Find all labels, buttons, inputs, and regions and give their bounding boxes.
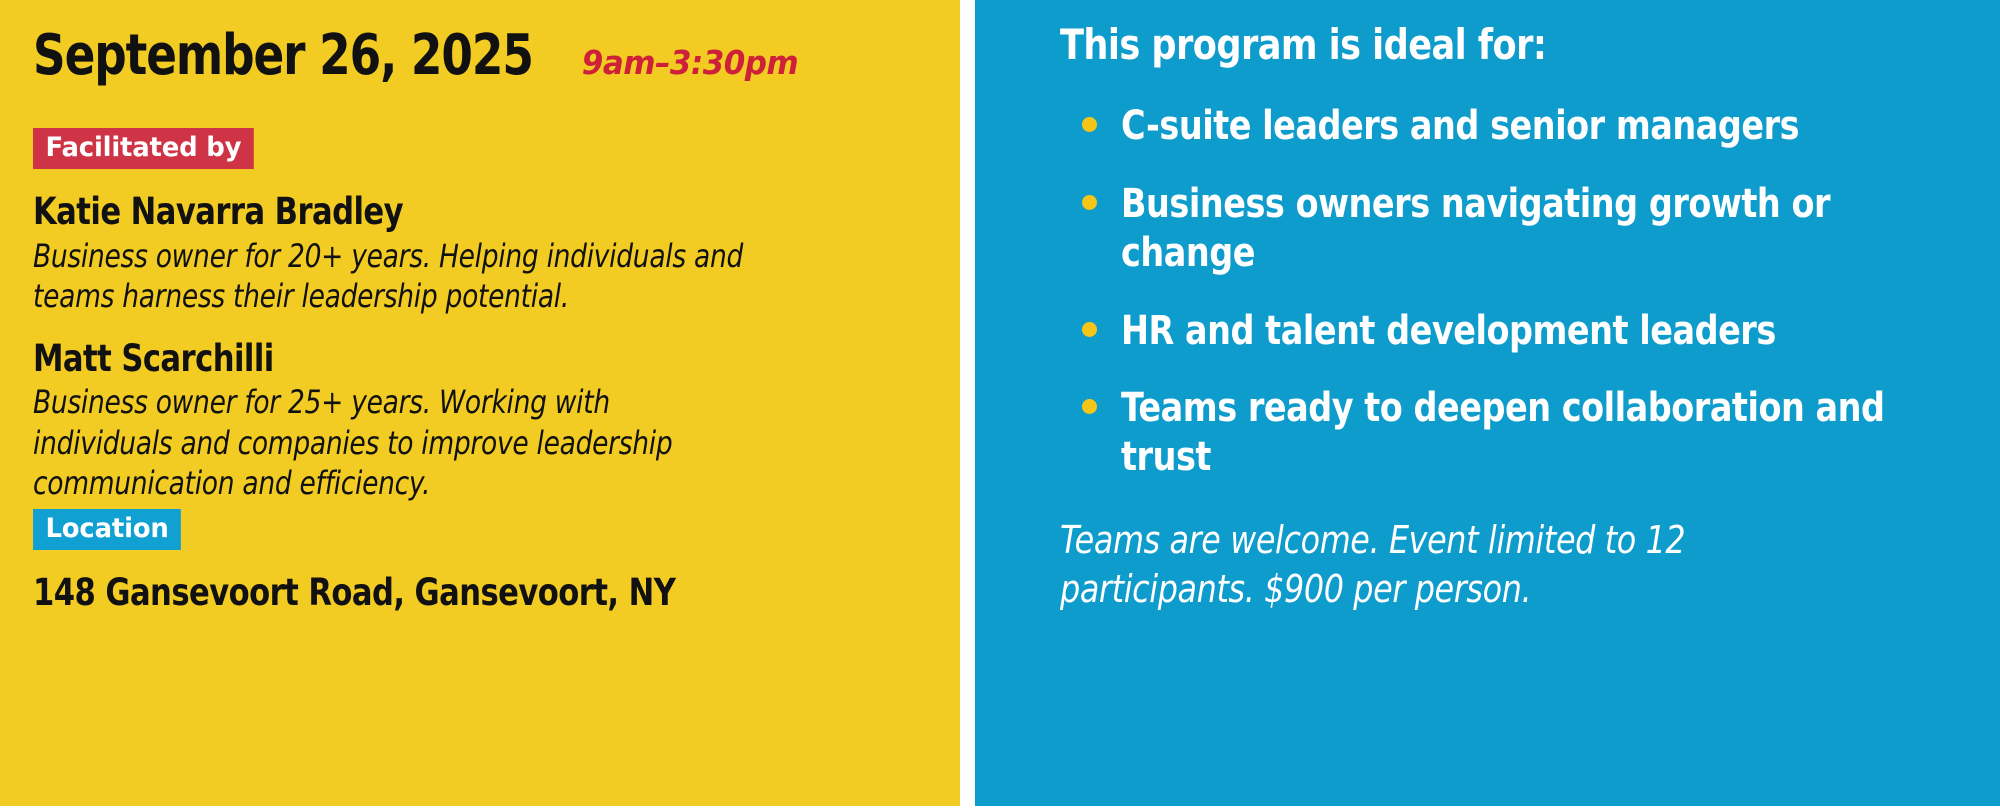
audience-heading: This program is ideal for:: [1060, 22, 1897, 68]
event-poster: September 26, 2025 9am–3:30pm Facilitate…: [0, 0, 2000, 810]
facilitator-entry: Matt Scarchilli Business owner for 25+ y…: [33, 338, 960, 503]
list-item-label: HR and talent development leaders: [1121, 307, 1776, 356]
headline-row: September 26, 2025 9am–3:30pm: [33, 26, 960, 86]
location-badge: Location: [33, 509, 181, 550]
panel-divider: [960, 0, 975, 810]
facilitated-by-badge: Facilitated by: [33, 128, 254, 169]
facilitator-bio: Business owner for 25+ years. Working wi…: [33, 382, 751, 503]
bullet-dot-icon: [1082, 322, 1097, 337]
list-item: Teams ready to deepen collaboration and …: [1082, 384, 1960, 482]
closing-note: Teams are welcome. Event limited to 12 p…: [1060, 516, 1730, 615]
bullet-dot-icon: [1082, 117, 1097, 132]
event-address: 148 Gansevoort Road, Gansevoort, NY: [33, 572, 886, 615]
list-item-label: Business owners navigating growth or cha…: [1121, 180, 1901, 278]
bullet-dot-icon: [1082, 195, 1097, 210]
list-item-label: Teams ready to deepen collaboration and …: [1121, 384, 1901, 482]
audience-list: C-suite leaders and senior managers Busi…: [1082, 102, 1960, 482]
list-item: Business owners navigating growth or cha…: [1082, 180, 1960, 278]
list-item: HR and talent development leaders: [1082, 307, 1960, 356]
facilitator-name: Katie Navarra Bradley: [33, 191, 886, 233]
list-item-label: C-suite leaders and senior managers: [1121, 102, 1799, 151]
audience-panel: This program is ideal for: C-suite leade…: [975, 0, 2000, 806]
list-item: C-suite leaders and senior managers: [1082, 102, 1960, 151]
event-date-heading: September 26, 2025: [33, 26, 533, 86]
facilitator-name: Matt Scarchilli: [33, 338, 886, 380]
facilitator-bio: Business owner for 20+ years. Helping in…: [33, 236, 751, 317]
bullet-dot-icon: [1082, 399, 1097, 414]
facilitator-entry: Katie Navarra Bradley Business owner for…: [33, 191, 960, 316]
event-details-panel: September 26, 2025 9am–3:30pm Facilitate…: [0, 0, 960, 806]
event-time: 9am–3:30pm: [582, 43, 798, 82]
